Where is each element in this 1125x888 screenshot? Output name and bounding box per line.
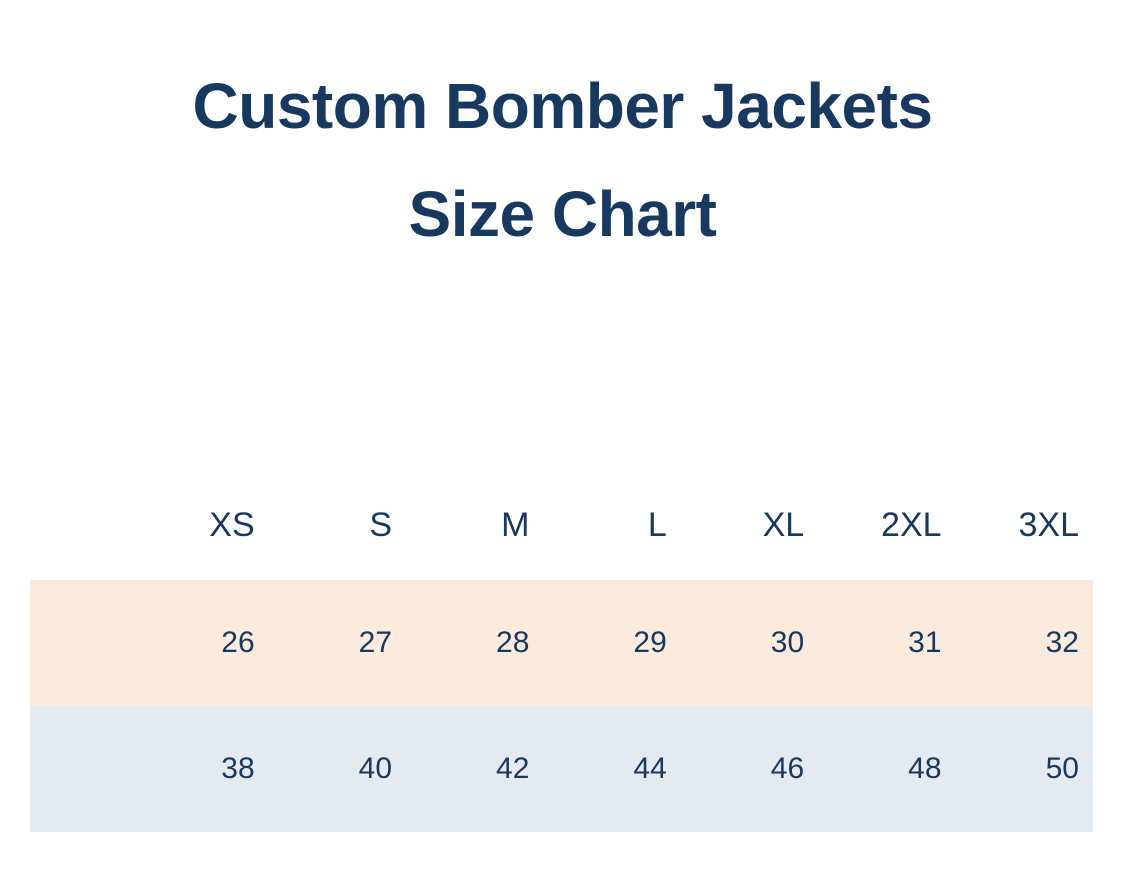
cell-row1-2xl: 48 [818, 706, 955, 832]
cell-row1-xl: 46 [681, 706, 818, 832]
column-header-xs: XS [131, 470, 268, 580]
cell-row0-3xl: 32 [956, 580, 1093, 706]
row-label-header [30, 470, 131, 580]
page-title-line-2: Size Chart [0, 160, 1125, 268]
cell-row0-l: 29 [543, 580, 680, 706]
column-header-m: M [406, 470, 543, 580]
cell-row1-m: 42 [406, 706, 543, 832]
table-row: 26 27 28 29 30 31 32 [30, 580, 1093, 706]
column-header-l: L [543, 470, 680, 580]
table-row: 38 40 42 44 46 48 50 [30, 706, 1093, 832]
column-header-2xl: 2XL [818, 470, 955, 580]
cell-row1-xs: 38 [131, 706, 268, 832]
cell-row0-xl: 30 [681, 580, 818, 706]
table-header-row: XS S M L XL 2XL 3XL [30, 470, 1093, 580]
page-title: Custom Bomber Jackets Size Chart [0, 52, 1125, 268]
row-label [30, 706, 131, 832]
page-title-line-1: Custom Bomber Jackets [0, 52, 1125, 160]
column-header-xl: XL [681, 470, 818, 580]
column-header-3xl: 3XL [956, 470, 1093, 580]
cell-row0-2xl: 31 [818, 580, 955, 706]
cell-row0-xs: 26 [131, 580, 268, 706]
cell-row0-s: 27 [269, 580, 406, 706]
size-chart-table: XS S M L XL 2XL 3XL 26 27 28 29 30 31 32… [30, 470, 1093, 832]
cell-row1-3xl: 50 [956, 706, 1093, 832]
row-label [30, 580, 131, 706]
cell-row1-s: 40 [269, 706, 406, 832]
cell-row1-l: 44 [543, 706, 680, 832]
column-header-s: S [269, 470, 406, 580]
cell-row0-m: 28 [406, 580, 543, 706]
